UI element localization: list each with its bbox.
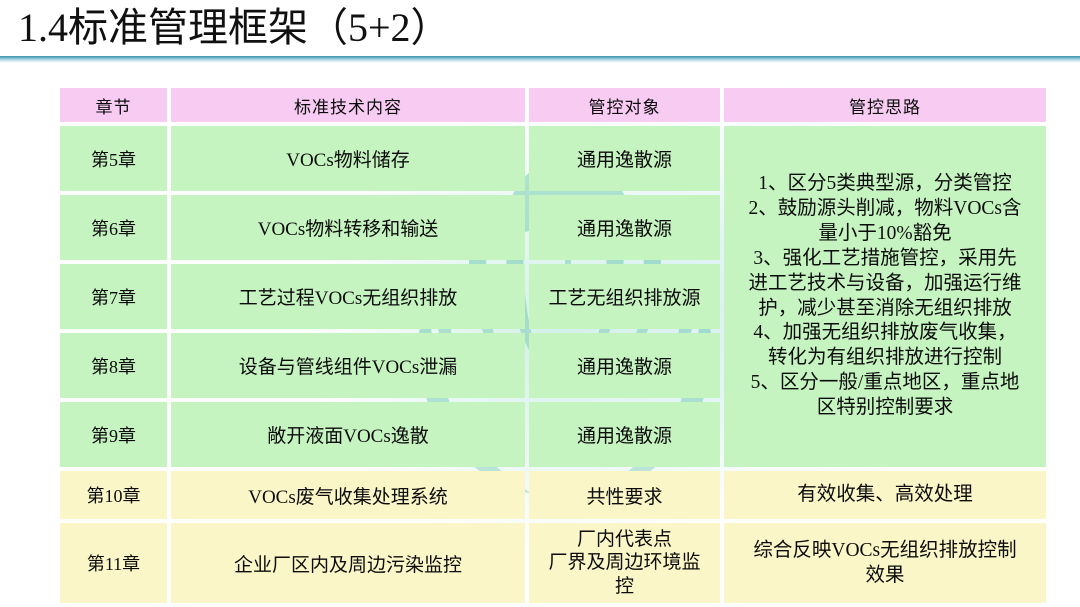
column-header-chapter: 章节 — [60, 88, 167, 122]
table-row: 第10章 VOCs废气收集处理系统 共性要求 有效收集、高效处理 — [60, 471, 1046, 519]
cell-chapter-7: 第7章 — [60, 264, 167, 329]
approach-line-3: 量小于10%豁免 — [724, 222, 1046, 247]
table-row: 第5章 VOCs物料储存 通用逸散源 1、区分5类典型源，分类管控 2、鼓励源头… — [60, 126, 1046, 191]
object-11-line-1: 厂内代表点 — [529, 528, 720, 552]
standard-framework-table: 章节 标准技术内容 管控对象 管控思路 第5章 VOCs物料储存 通用逸散源 1… — [60, 88, 1038, 603]
table-header-row: 章节 标准技术内容 管控对象 管控思路 — [60, 88, 1046, 122]
cell-content-8: 设备与管线组件VOCs泄漏 — [171, 333, 525, 398]
page-title: 1.4标准管理框架（5+2） — [0, 0, 1080, 54]
cell-chapter-6: 第6章 — [60, 195, 167, 260]
cell-object-8: 通用逸散源 — [529, 333, 720, 398]
cell-object-5: 通用逸散源 — [529, 126, 720, 191]
cell-content-6: VOCs物料转移和输送 — [171, 195, 525, 260]
approach-11-line-1: 综合反映VOCs无组织排放控制 — [724, 538, 1046, 563]
cell-chapter-5: 第5章 — [60, 126, 167, 191]
cell-object-6: 通用逸散源 — [529, 195, 720, 260]
column-header-control-object: 管控对象 — [529, 88, 720, 122]
approach-line-9: 5、区分一般/重点地区，重点地 — [724, 371, 1046, 396]
cell-content-5: VOCs物料储存 — [171, 126, 525, 191]
cell-object-9: 通用逸散源 — [529, 402, 720, 467]
cell-content-9: 敞开液面VOCs逸散 — [171, 402, 525, 467]
object-11-line-3: 控 — [529, 575, 720, 599]
column-header-control-approach: 管控思路 — [724, 88, 1046, 122]
approach-line-6: 护，减少甚至消除无组织排放 — [724, 297, 1046, 322]
cell-chapter-9: 第9章 — [60, 402, 167, 467]
column-header-tech-content: 标准技术内容 — [171, 88, 525, 122]
cell-object-10: 共性要求 — [529, 471, 720, 519]
approach-line-2: 2、鼓励源头削减，物料VOCs含 — [724, 197, 1046, 222]
approach-11-line-2: 效果 — [724, 563, 1046, 588]
table-row: 第11章 企业厂区内及周边污染监控 厂内代表点 厂界及周边环境监 控 综合反映V… — [60, 523, 1046, 603]
object-11-line-2: 厂界及周边环境监 — [529, 551, 720, 575]
approach-line-1: 1、区分5类典型源，分类管控 — [724, 172, 1046, 197]
cell-approach-11: 综合反映VOCs无组织排放控制 效果 — [724, 523, 1046, 603]
cell-approach-general: 1、区分5类典型源，分类管控 2、鼓励源头削减，物料VOCs含 量小于10%豁免… — [724, 126, 1046, 467]
approach-line-5: 进工艺技术与设备，加强运行维 — [724, 272, 1046, 297]
title-divider — [0, 56, 1080, 63]
approach-line-4: 3、强化工艺措施管控，采用先 — [724, 247, 1046, 272]
cell-content-7: 工艺过程VOCs无组织排放 — [171, 264, 525, 329]
framework-table: 章节 标准技术内容 管控对象 管控思路 第5章 VOCs物料储存 通用逸散源 1… — [56, 84, 1050, 607]
cell-chapter-8: 第8章 — [60, 333, 167, 398]
cell-chapter-10: 第10章 — [60, 471, 167, 519]
cell-object-11: 厂内代表点 厂界及周边环境监 控 — [529, 523, 720, 603]
approach-line-10: 区特别控制要求 — [724, 396, 1046, 421]
cell-object-7: 工艺无组织排放源 — [529, 264, 720, 329]
approach-line-8: 转化为有组织排放进行控制 — [724, 346, 1046, 371]
cell-approach-10: 有效收集、高效处理 — [724, 471, 1046, 519]
title-block: 1.4标准管理框架（5+2） — [0, 0, 1080, 63]
cell-content-11: 企业厂区内及周边污染监控 — [171, 523, 525, 603]
cell-chapter-11: 第11章 — [60, 523, 167, 603]
cell-content-10: VOCs废气收集处理系统 — [171, 471, 525, 519]
approach-line-7: 4、加强无组织排放废气收集， — [724, 321, 1046, 346]
